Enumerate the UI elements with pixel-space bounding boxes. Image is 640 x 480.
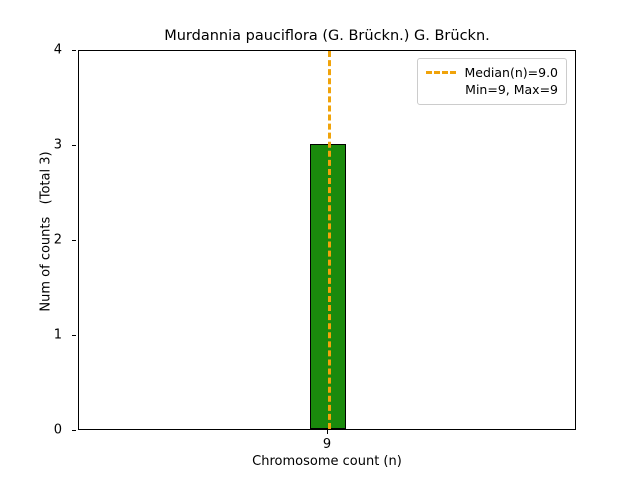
legend-item-median: Median(n)=9.0 xyxy=(426,64,559,81)
legend-label-minmax: Min=9, Max=9 xyxy=(465,81,558,98)
chart-legend: Median(n)=9.0 Min=9, Max=9 xyxy=(417,58,568,105)
median-line xyxy=(328,51,331,429)
y-axis-tick-mark xyxy=(72,430,76,431)
y-axis-tick-mark xyxy=(72,145,76,146)
x-axis-tick-label: 9 xyxy=(297,438,357,451)
y-axis-tick-label: 0 xyxy=(2,424,62,437)
y-axis-tick-label: 1 xyxy=(2,329,62,342)
y-axis-tick-mark xyxy=(72,240,76,241)
y-axis-tick-labels: 01234 xyxy=(0,50,72,430)
dashed-line-icon xyxy=(426,71,456,74)
x-axis-tick-mark xyxy=(327,430,328,434)
y-axis-tick-mark xyxy=(72,50,76,51)
legend-item-minmax: Min=9, Max=9 xyxy=(426,81,559,98)
y-axis-tick-label: 3 xyxy=(2,139,62,152)
page-title: Murdannia pauciflora (G. Brückn.) G. Brü… xyxy=(78,28,576,45)
x-axis-label: Chromosome count (n) xyxy=(78,455,576,468)
y-axis-tick-label: 2 xyxy=(2,234,62,247)
legend-label-median: Median(n)=9.0 xyxy=(465,64,559,81)
chart-figure: Murdannia pauciflora (G. Brückn.) G. Brü… xyxy=(0,0,640,480)
y-axis-tick-mark xyxy=(72,335,76,336)
plot-area: Median(n)=9.0 Min=9, Max=9 xyxy=(78,50,576,430)
y-axis-tick-label: 4 xyxy=(2,44,62,57)
